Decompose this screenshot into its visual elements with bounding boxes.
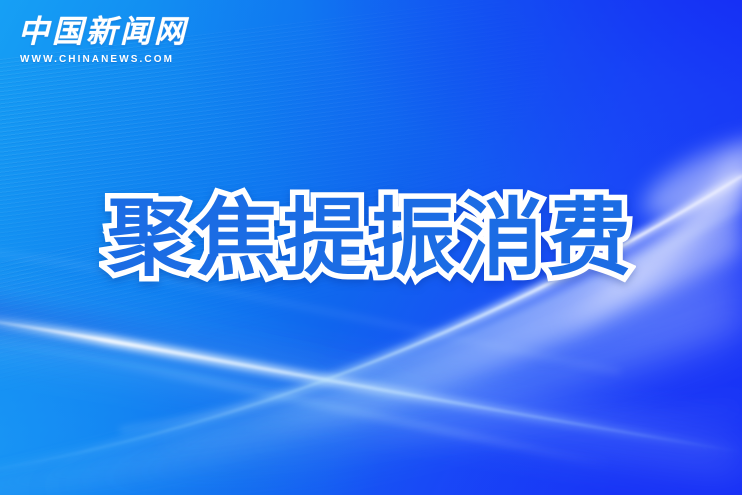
- headline-container: 聚焦提振消费: [0, 196, 742, 280]
- headline-title: 聚焦提振消费: [107, 196, 635, 280]
- news-banner: 中国新闻网 WWW.CHINANEWS.COM 聚焦提振消费: [0, 0, 742, 495]
- logo-website-url: WWW.CHINANEWS.COM: [20, 54, 188, 65]
- chinanews-logo[interactable]: 中国新闻网 WWW.CHINANEWS.COM: [18, 16, 188, 65]
- logo-name-cn: 中国新闻网: [18, 16, 188, 49]
